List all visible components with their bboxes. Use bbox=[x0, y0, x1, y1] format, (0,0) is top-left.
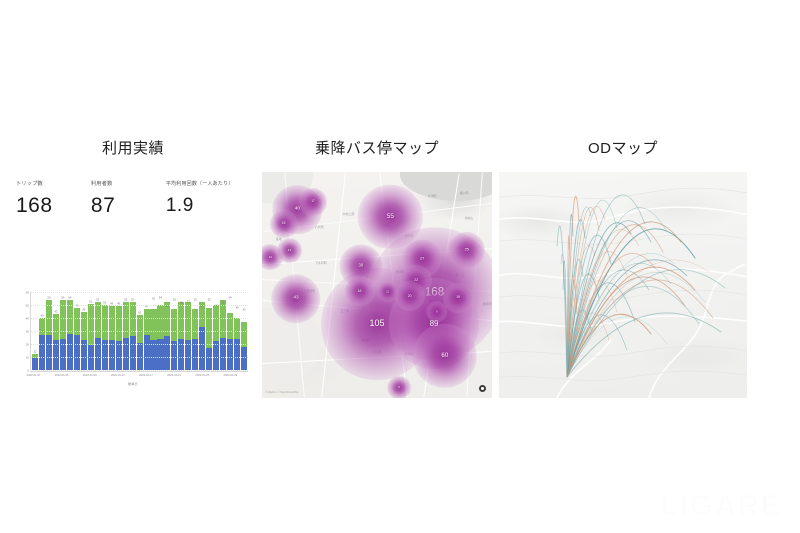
screenshot-canvas: 利用実績 トリップ数 168 利用者数 87 平均利用回数（一人あたり） 1.9 bbox=[0, 0, 800, 533]
chart-bar-segment-alight bbox=[88, 304, 94, 346]
chart-bar-segment-alight bbox=[123, 302, 129, 337]
chart-bar-segment-board bbox=[206, 348, 212, 370]
bus-stop-blob[interactable]: 20 bbox=[395, 281, 425, 311]
chart-x-tick-label: 2022-01-29 bbox=[224, 374, 238, 377]
chart-bar-segment-alight bbox=[192, 309, 198, 339]
kpi-trip-count-value: 168 bbox=[16, 192, 85, 220]
chart-x-tick-label: 2022-01-05 bbox=[55, 374, 69, 377]
bus-stop-blob-value: 40 bbox=[295, 208, 300, 213]
chart-bar-value-label: 52 bbox=[173, 299, 176, 302]
map-place-label: 中村上原 bbox=[343, 213, 355, 216]
chart-x-tick-label: 2022-01-13 bbox=[111, 374, 125, 377]
kpi-trip-count: トリップ数 168 bbox=[16, 180, 85, 220]
kpi-average-usage-label: 平均利用回数（一人あたり） bbox=[166, 180, 252, 188]
kpi-user-count-label: 利用者数 bbox=[91, 180, 160, 188]
chart-bar-segment-alight bbox=[109, 306, 115, 340]
bus-stop-blob[interactable]: 8 bbox=[387, 376, 411, 398]
ligare-watermark: LIGARE bbox=[660, 490, 782, 523]
chart-bar-value-label: 45 bbox=[82, 308, 85, 311]
chart-bar-segment-board bbox=[123, 338, 129, 371]
od-arc-layer bbox=[499, 172, 747, 398]
chart-bar-segment-alight bbox=[213, 305, 219, 341]
chart-bar-segment-alight bbox=[137, 315, 143, 342]
chart-bar-value-label: 52 bbox=[96, 299, 99, 302]
usage-bar-chart: 1240544354544845515250494952524247535447… bbox=[14, 290, 252, 394]
chart-gridline: 50 bbox=[31, 305, 248, 306]
chart-y-tick-label: 30 bbox=[26, 331, 29, 334]
map-place-label: 北向山 bbox=[464, 217, 473, 220]
chart-bar-segment-board bbox=[241, 347, 247, 370]
chart-bar-segment-board bbox=[46, 335, 52, 370]
bus-stop-blob-value: 43 bbox=[293, 296, 298, 301]
od-river-lines bbox=[499, 207, 747, 398]
kpi-row: トリップ数 168 利用者数 87 平均利用回数（一人あたり） 1.9 bbox=[8, 172, 258, 220]
chart-plot-area: 1240544354544845515250494952524247535447… bbox=[30, 292, 248, 370]
bus-stop-blob[interactable]: 9 bbox=[426, 301, 448, 323]
chart-gridline: 30 bbox=[31, 331, 248, 332]
chart-bar-segment-board bbox=[144, 335, 150, 370]
chart-bar-segment-board bbox=[67, 334, 73, 370]
chart-gridline: 10 bbox=[31, 357, 248, 358]
chart-bar-value-label: 54 bbox=[61, 296, 64, 299]
chart-bar-segment-board bbox=[32, 358, 38, 370]
chart-bar-value-label: 52 bbox=[194, 299, 197, 302]
chart-gridline: 20 bbox=[31, 344, 248, 345]
map-place-label: 相川町 bbox=[460, 192, 469, 195]
chart-bar-segment-alight bbox=[95, 302, 101, 337]
chart-y-tick-label: 10 bbox=[26, 357, 29, 360]
kpi-trip-count-label: トリップ数 bbox=[16, 180, 85, 188]
chart-x-axis-title: 乗降日 bbox=[14, 382, 252, 386]
chart-bar-value-label: 42 bbox=[138, 312, 141, 315]
chart-bar-segment-alight bbox=[206, 308, 212, 348]
bus-stop-blob-value: 19 bbox=[456, 296, 460, 299]
chart-y-tick-label: 20 bbox=[26, 344, 29, 347]
od-trip-arcs bbox=[557, 195, 725, 377]
chart-bar-segment-board bbox=[116, 341, 122, 370]
chart-bar-value-label: 54 bbox=[47, 296, 50, 299]
chart-x-tick-label: 2022-01-25 bbox=[195, 374, 209, 377]
chart-x-tick-label: 2022-01-01 bbox=[27, 374, 41, 377]
chart-bar-segment-board bbox=[199, 327, 205, 370]
bus-stop-blob-value: 30 bbox=[359, 263, 364, 267]
chart-bar-segment-alight bbox=[39, 318, 45, 335]
bus-stop-blob-value: 9 bbox=[436, 310, 438, 313]
map-place-label: 下木戸町 bbox=[315, 262, 327, 265]
bus-stop-blob[interactable]: 18 bbox=[344, 276, 374, 306]
bus-stop-blob-value: 13 bbox=[288, 249, 291, 252]
chart-bar-segment-alight bbox=[234, 318, 240, 339]
chart-bar-segment-alight bbox=[102, 305, 108, 340]
kpi-user-count: 利用者数 87 bbox=[91, 180, 160, 220]
bus-stop-blob-value: 20 bbox=[408, 295, 412, 298]
chart-y-tick-label: 0 bbox=[27, 370, 29, 373]
chart-bar-segment-alight bbox=[150, 309, 156, 340]
usage-panel-title: 利用実績 bbox=[8, 140, 258, 158]
bus-stop-blob[interactable]: 15 bbox=[270, 210, 298, 238]
chart-x-tick-label: 2022-01-21 bbox=[167, 374, 181, 377]
map-info-button[interactable] bbox=[479, 385, 486, 392]
chart-bar-segment-board bbox=[39, 335, 45, 370]
bus-stop-blob-value: 8 bbox=[398, 386, 400, 389]
chart-bar-segment-alight bbox=[171, 309, 177, 342]
map-place-label: 大津町 bbox=[428, 195, 437, 198]
bus-stop-map-body[interactable]: 大津町相川町北向山中村上原川尻町田代町八代町宮地下木戸町本山西原町尾ノ上上野原町… bbox=[262, 172, 492, 398]
bus-stop-blob[interactable]: 55 bbox=[358, 184, 423, 249]
chart-bar-value-label: 52 bbox=[124, 299, 127, 302]
chart-bar-segment-board bbox=[95, 338, 101, 371]
chart-gridline: 60 bbox=[31, 292, 248, 293]
chart-bar-segment-board bbox=[130, 336, 136, 370]
chart-bar-segment-board bbox=[213, 341, 219, 370]
bus-stop-blob-value: 25 bbox=[465, 248, 469, 252]
chart-bar-segment-alight bbox=[116, 306, 122, 341]
bus-stop-blob-value: 18 bbox=[358, 290, 362, 293]
chart-bar-value-label: 12 bbox=[33, 351, 36, 354]
map-attribution: © Mapbox © OpenStreetMap bbox=[265, 391, 299, 395]
kpi-user-count-value: 87 bbox=[91, 192, 160, 220]
chart-bar-value-label: 46 bbox=[236, 307, 239, 310]
bus-stop-map-title: 乗降バス停マップ bbox=[262, 140, 492, 158]
chart-bar-segment-alight bbox=[178, 302, 184, 338]
chart-bar-value-label: 53 bbox=[152, 298, 155, 301]
chart-bar-value-label: 43 bbox=[54, 311, 57, 314]
chart-bar-value-label: 51 bbox=[89, 300, 92, 303]
bus-stop-blob-value: 27 bbox=[420, 257, 424, 261]
chart-bar-segment-alight bbox=[157, 305, 163, 339]
bus-stop-blob[interactable]: 17 bbox=[299, 188, 327, 216]
bus-stop-blob-value: 12 bbox=[269, 256, 272, 259]
bus-stop-blob-value: 15 bbox=[282, 222, 286, 225]
map-info-icon bbox=[481, 387, 483, 389]
chart-bar-segment-alight bbox=[185, 302, 191, 340]
bus-stop-blob-value: 17 bbox=[311, 200, 315, 203]
od-map-panel: ODマップ bbox=[499, 140, 747, 398]
bus-stop-map-panel: 乗降バス停マップ 大津町相川町北向山中村上原川尻町田代町八代町宮地下木戸町本山西… bbox=[262, 140, 492, 398]
chart-bar-value-label: 51 bbox=[187, 300, 190, 303]
bus-stop-blob[interactable]: 25 bbox=[448, 232, 485, 269]
kpi-average-usage-value: 1.9 bbox=[166, 192, 252, 220]
bus-stop-blob-value: 105 bbox=[369, 319, 384, 328]
chart-y-tick-label: 60 bbox=[26, 292, 29, 295]
chart-x-tick-label: 2022-01-09 bbox=[83, 374, 97, 377]
usage-performance-panel: 利用実績 トリップ数 168 利用者数 87 平均利用回数（一人あたり） 1.9 bbox=[8, 140, 258, 398]
od-map-body[interactable] bbox=[499, 172, 747, 398]
chart-y-tick-label: 50 bbox=[26, 305, 29, 308]
chart-bar-value-label: 52 bbox=[131, 299, 134, 302]
chart-bar-segment-board bbox=[220, 338, 226, 371]
chart-gridline: 40 bbox=[31, 318, 248, 319]
chart-bar-segment-alight bbox=[81, 312, 87, 341]
chart-bar-segment-board bbox=[171, 341, 177, 370]
bus-stop-blob-value: 11 bbox=[386, 290, 389, 293]
bus-stop-blob-value: 60 bbox=[441, 353, 448, 359]
od-map-title: ODマップ bbox=[499, 140, 747, 158]
chart-bar-segment-alight bbox=[241, 322, 247, 347]
chart-bar-value-label: 54 bbox=[229, 296, 232, 299]
bus-stop-blob[interactable]: 60 bbox=[413, 324, 478, 389]
chart-x-axis: 2022-01-012022-01-052022-01-092022-01-13… bbox=[30, 371, 248, 382]
kpi-average-usage: 平均利用回数（一人あたり） 1.9 bbox=[166, 180, 252, 220]
chart-bar-value-label: 52 bbox=[208, 299, 211, 302]
chart-bar-value-label: 54 bbox=[159, 296, 162, 299]
chart-x-tick-label: 2022-01-17 bbox=[139, 374, 153, 377]
chart-bar-segment-board bbox=[74, 335, 80, 370]
bus-stop-blob-value: 55 bbox=[387, 214, 394, 220]
usage-panel-body: トリップ数 168 利用者数 87 平均利用回数（一人あたり） 1.9 1240… bbox=[8, 172, 258, 398]
chart-bar-value-label: 54 bbox=[68, 296, 71, 299]
map-place-label: 八代町 bbox=[315, 226, 324, 229]
chart-y-tick-label: 40 bbox=[26, 318, 29, 321]
chart-bar-segment-alight bbox=[227, 313, 233, 339]
chart-bar-segment-board bbox=[164, 336, 170, 370]
chart-bar-value-label: 45 bbox=[243, 308, 246, 311]
od-trip-arc bbox=[567, 222, 681, 377]
bus-stop-blob[interactable]: 11 bbox=[377, 281, 399, 303]
